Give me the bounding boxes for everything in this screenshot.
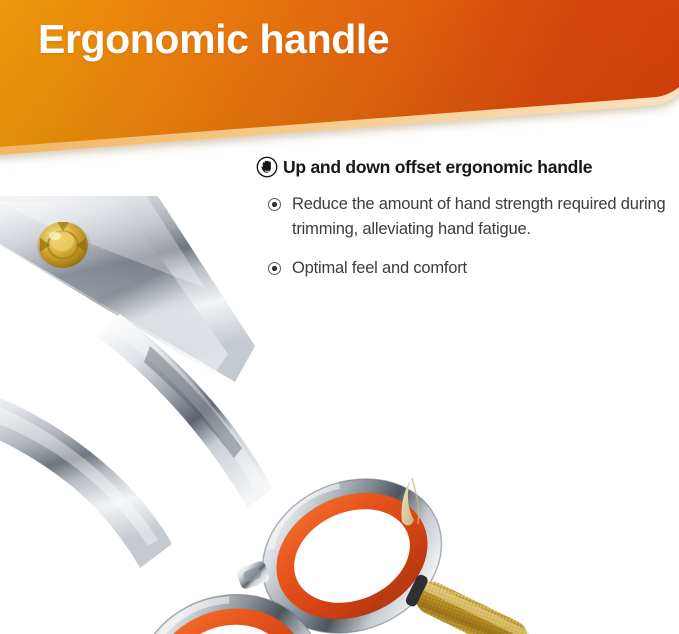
- hand-palm-icon: [256, 156, 278, 178]
- feature-bullet-list: Reduce the amount of hand strength requi…: [256, 192, 671, 281]
- bullet-dot-icon: [268, 198, 281, 211]
- header-banner: Ergonomic handle: [0, 0, 679, 175]
- bullet-text: Optimal feel and comfort: [292, 256, 467, 281]
- list-item: Optimal feel and comfort: [256, 256, 671, 281]
- bullet-dot-icon: [268, 262, 281, 275]
- list-item: Reduce the amount of hand strength requi…: [256, 192, 671, 242]
- feature-text-block: Up and down offset ergonomic handle Redu…: [256, 156, 671, 295]
- bullet-text: Reduce the amount of hand strength requi…: [292, 192, 671, 242]
- page-title: Ergonomic handle: [38, 16, 389, 63]
- feature-heading-row: Up and down offset ergonomic handle: [256, 156, 671, 178]
- gold-grip-upper: [404, 573, 533, 634]
- tension-screw: [37, 222, 91, 272]
- scissor-shank-second: [0, 386, 172, 568]
- feature-heading-text: Up and down offset ergonomic handle: [283, 157, 592, 178]
